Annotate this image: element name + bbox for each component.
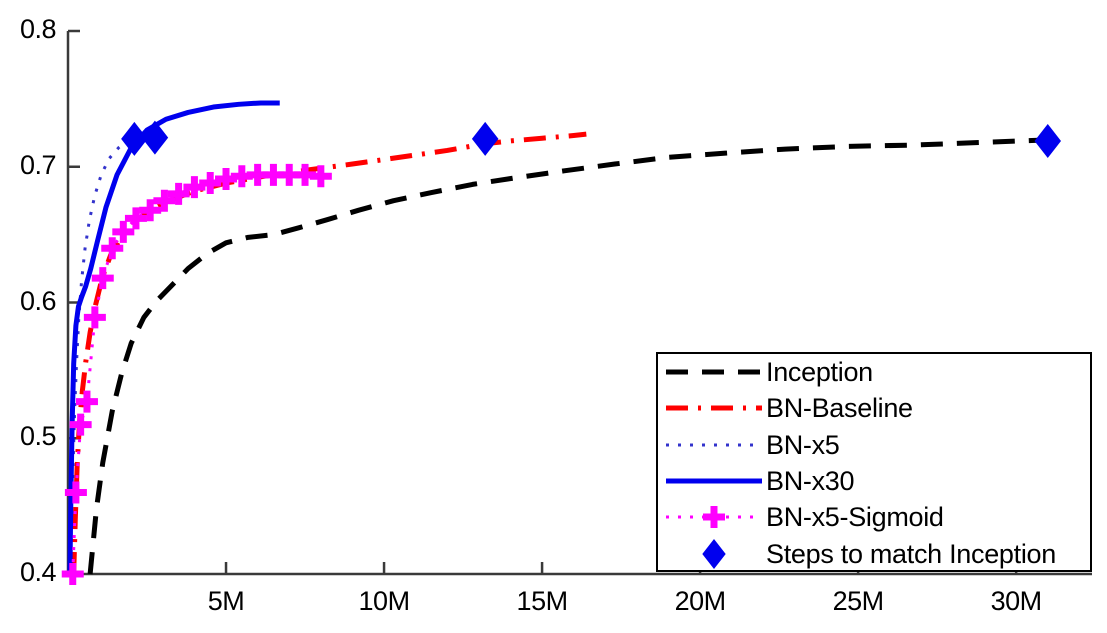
series-marker-diamond [142, 121, 169, 155]
legend-label: BN-x30 [766, 466, 854, 496]
legend-item-steps-to-match-inception[interactable]: Steps to match Inception [658, 535, 1090, 571]
y-tick-label: 0.4 [0, 557, 56, 588]
chart-legend: InceptionBN-BaselineBN-x5BN-x30BN-x5-Sig… [656, 352, 1092, 572]
y-tick-label: 0.7 [0, 150, 56, 181]
x-tick-label: 15M [492, 586, 592, 617]
legend-label: BN-x5-Sigmoid [766, 502, 944, 532]
legend-item-bn-x5[interactable]: BN-x5 [658, 427, 1090, 463]
legend-item-bn-baseline[interactable]: BN-Baseline [658, 390, 1090, 426]
legend-swatch-icon [662, 430, 766, 460]
legend-label: Inception [766, 357, 873, 387]
x-tick-label: 20M [650, 586, 750, 617]
legend-swatch-icon [662, 466, 766, 496]
x-tick-label: 30M [966, 586, 1066, 617]
legend-item-bn-x5-sigmoid[interactable]: BN-x5-Sigmoid [658, 499, 1090, 535]
y-tick-label: 0.6 [0, 286, 56, 317]
legend-item-bn-x30[interactable]: BN-x30 [658, 463, 1090, 499]
series-line-bn-x5-sigmoid [73, 175, 321, 574]
chart-figure: 0.40.50.60.70.8 5M10M15M20M25M30M Incept… [0, 0, 1107, 633]
series-marker-diamond [472, 122, 499, 156]
series-marker-plus [92, 267, 114, 289]
series-marker-plus [62, 563, 84, 585]
legend-item-inception[interactable]: Inception [658, 354, 1090, 390]
legend-label: BN-x5 [766, 430, 840, 460]
legend-label: BN-Baseline [766, 393, 913, 423]
legend-label: Steps to match Inception [766, 539, 1056, 569]
series-marker-diamond [1034, 124, 1061, 158]
legend-swatch-icon [662, 539, 766, 569]
legend-swatch-icon [662, 502, 766, 532]
y-tick-label: 0.5 [0, 421, 56, 452]
series-marker-plus [76, 391, 98, 413]
legend-swatch-icon [662, 357, 766, 387]
series-line-bn-x5 [71, 144, 123, 574]
x-tick-label: 5M [176, 586, 276, 617]
x-tick-label: 10M [334, 586, 434, 617]
series-marker-plus [84, 306, 106, 328]
legend-swatch-icon [662, 393, 766, 423]
y-tick-label: 0.8 [0, 14, 56, 45]
x-tick-label: 25M [808, 586, 908, 617]
